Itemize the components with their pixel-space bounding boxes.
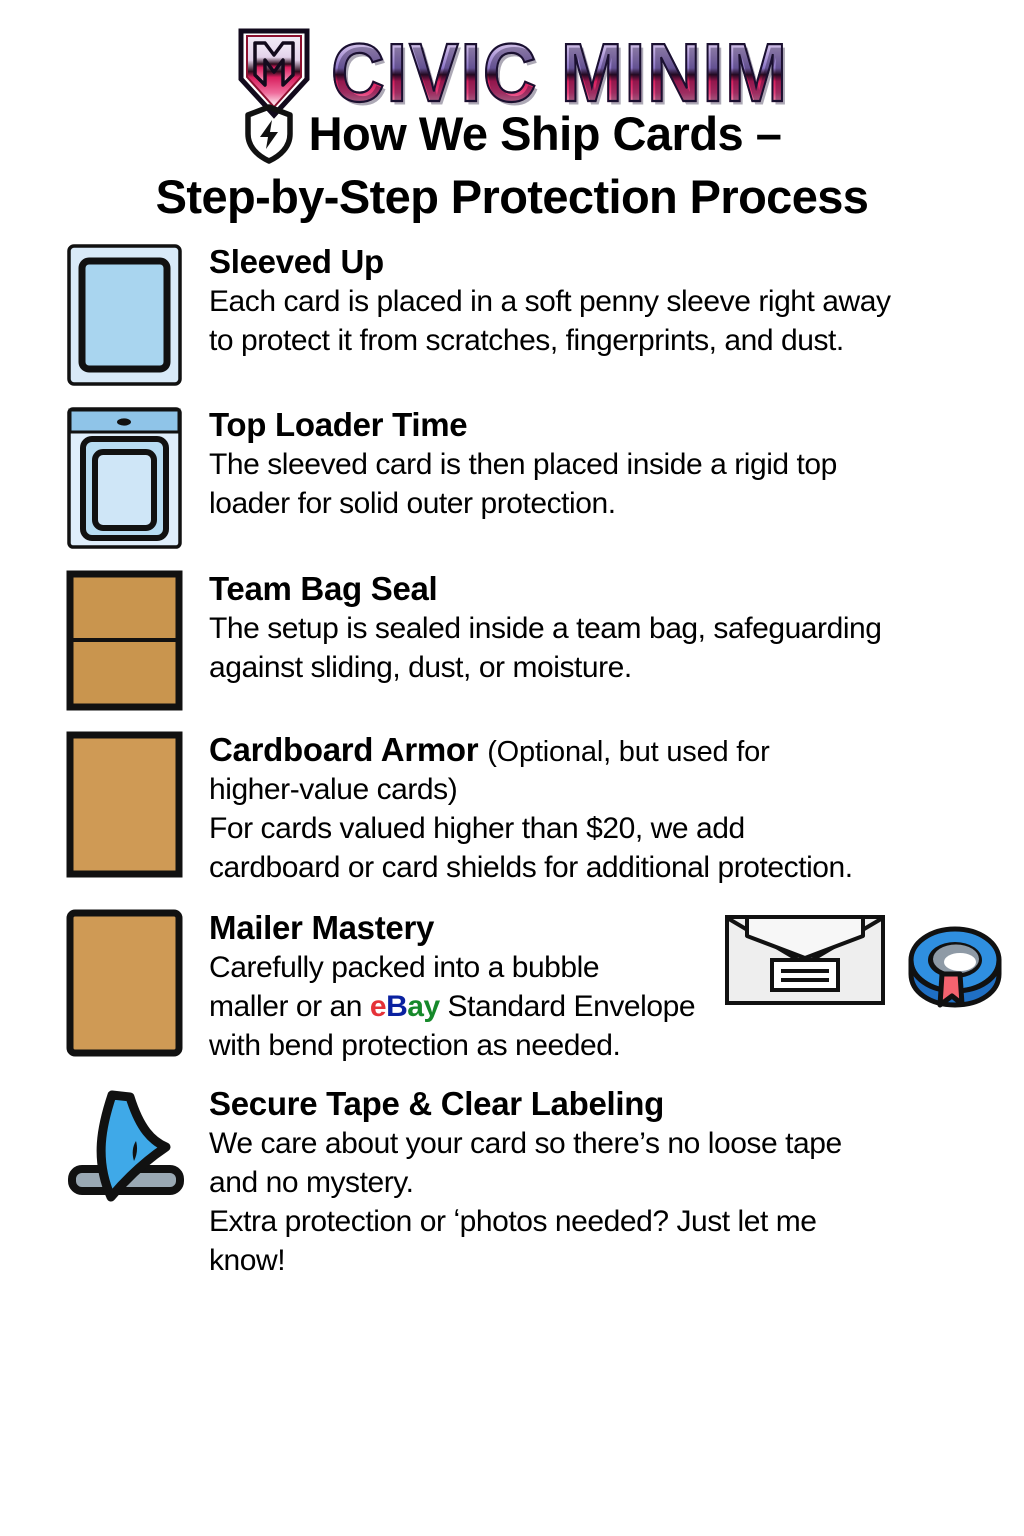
- desc-line: and no mystery.: [209, 1163, 998, 1202]
- desc-line: For cards valued higher than $20, we add: [209, 809, 998, 848]
- desc-line: to protect it from scratches, fingerprin…: [209, 321, 998, 360]
- step-title: Sleeved Up: [209, 244, 998, 281]
- penny-sleeve-icon: [66, 243, 183, 387]
- desc-line: know!: [209, 1241, 998, 1280]
- bubble-mailer-icon: [66, 909, 183, 1057]
- cardboard-icon: [66, 731, 183, 878]
- desc-line: loader for solid outer protection.: [209, 484, 998, 523]
- team-bag-icon: [66, 570, 183, 711]
- desc-line: higher-value cards): [209, 770, 998, 809]
- step-description: Each card is placed in a soft penny slee…: [209, 282, 998, 360]
- step-title-suffix: (Optional, but used for: [487, 736, 769, 768]
- page-title-line2: Step-by-Step Protection Process: [0, 173, 1024, 221]
- mailer-extra-icons: [724, 912, 1006, 1008]
- steps-list: Sleeved Up Each card is placed in a soft…: [0, 243, 1024, 1280]
- envelope-icon: [724, 914, 886, 1006]
- desc-text: Standard Envelope: [440, 990, 695, 1023]
- desc-line: cardboard or card shields for additional…: [209, 848, 998, 887]
- brand-wordmark: CIVIC MINIM: [331, 32, 789, 115]
- desc-line: against sliding, dust, or moisture.: [209, 648, 998, 687]
- top-loader-icon: [66, 406, 183, 550]
- desc-line: with bend protection as needed.: [209, 1026, 998, 1065]
- blue-arrow-tape-icon: [66, 1085, 191, 1205]
- step-title: Top Loader Time: [209, 407, 998, 444]
- step-description: The setup is sealed inside a team bag, s…: [209, 609, 998, 687]
- desc-line: The setup is sealed inside a team bag, s…: [209, 609, 998, 648]
- desc-line: We care about your card so there’s no lo…: [209, 1124, 998, 1163]
- step-sleeved-up: Sleeved Up Each card is placed in a soft…: [66, 243, 998, 387]
- step-description: higher-value cards) For cards valued hig…: [209, 770, 998, 887]
- step-description: We care about your card so there’s no lo…: [209, 1124, 998, 1280]
- step-title: Team Bag Seal: [209, 571, 998, 608]
- page-title: How We Ship Cards – Step-by-Step Protect…: [0, 104, 1024, 221]
- step-mailer-mastery: Mailer Mastery Carefully packed into a b…: [66, 909, 998, 1065]
- infographic-page: CIVIC MINIM How We Ship Cards – Step-by-…: [0, 0, 1024, 1536]
- step-cardboard-armor: Cardboard Armor (Optional, but used for …: [66, 731, 998, 887]
- desc-line: Each card is placed in a soft penny slee…: [209, 282, 998, 321]
- brand-logo: CIVIC MINIM: [0, 0, 1024, 100]
- ebay-wordmark: eBay: [370, 990, 440, 1023]
- step-title: Cardboard Armor (Optional, but used for: [209, 732, 998, 769]
- step-team-bag: Team Bag Seal The setup is sealed inside…: [66, 570, 998, 711]
- desc-text: maller or an: [209, 990, 370, 1023]
- tape-roll-icon: [900, 912, 1006, 1008]
- step-title: Secure Tape & Clear Labeling: [209, 1086, 998, 1123]
- desc-line: Extra protection or ʻphotos needed? Just…: [209, 1202, 998, 1241]
- step-secure-tape-labeling: Secure Tape & Clear Labeling We care abo…: [66, 1085, 998, 1280]
- step-description: The sleeved card is then placed inside a…: [209, 445, 998, 523]
- step-top-loader: Top Loader Time The sleeved card is then…: [66, 406, 998, 550]
- shield-bolt-icon: [243, 104, 295, 164]
- step-title-main: Cardboard Armor: [209, 731, 478, 768]
- desc-line: The sleeved card is then placed inside a…: [209, 445, 998, 484]
